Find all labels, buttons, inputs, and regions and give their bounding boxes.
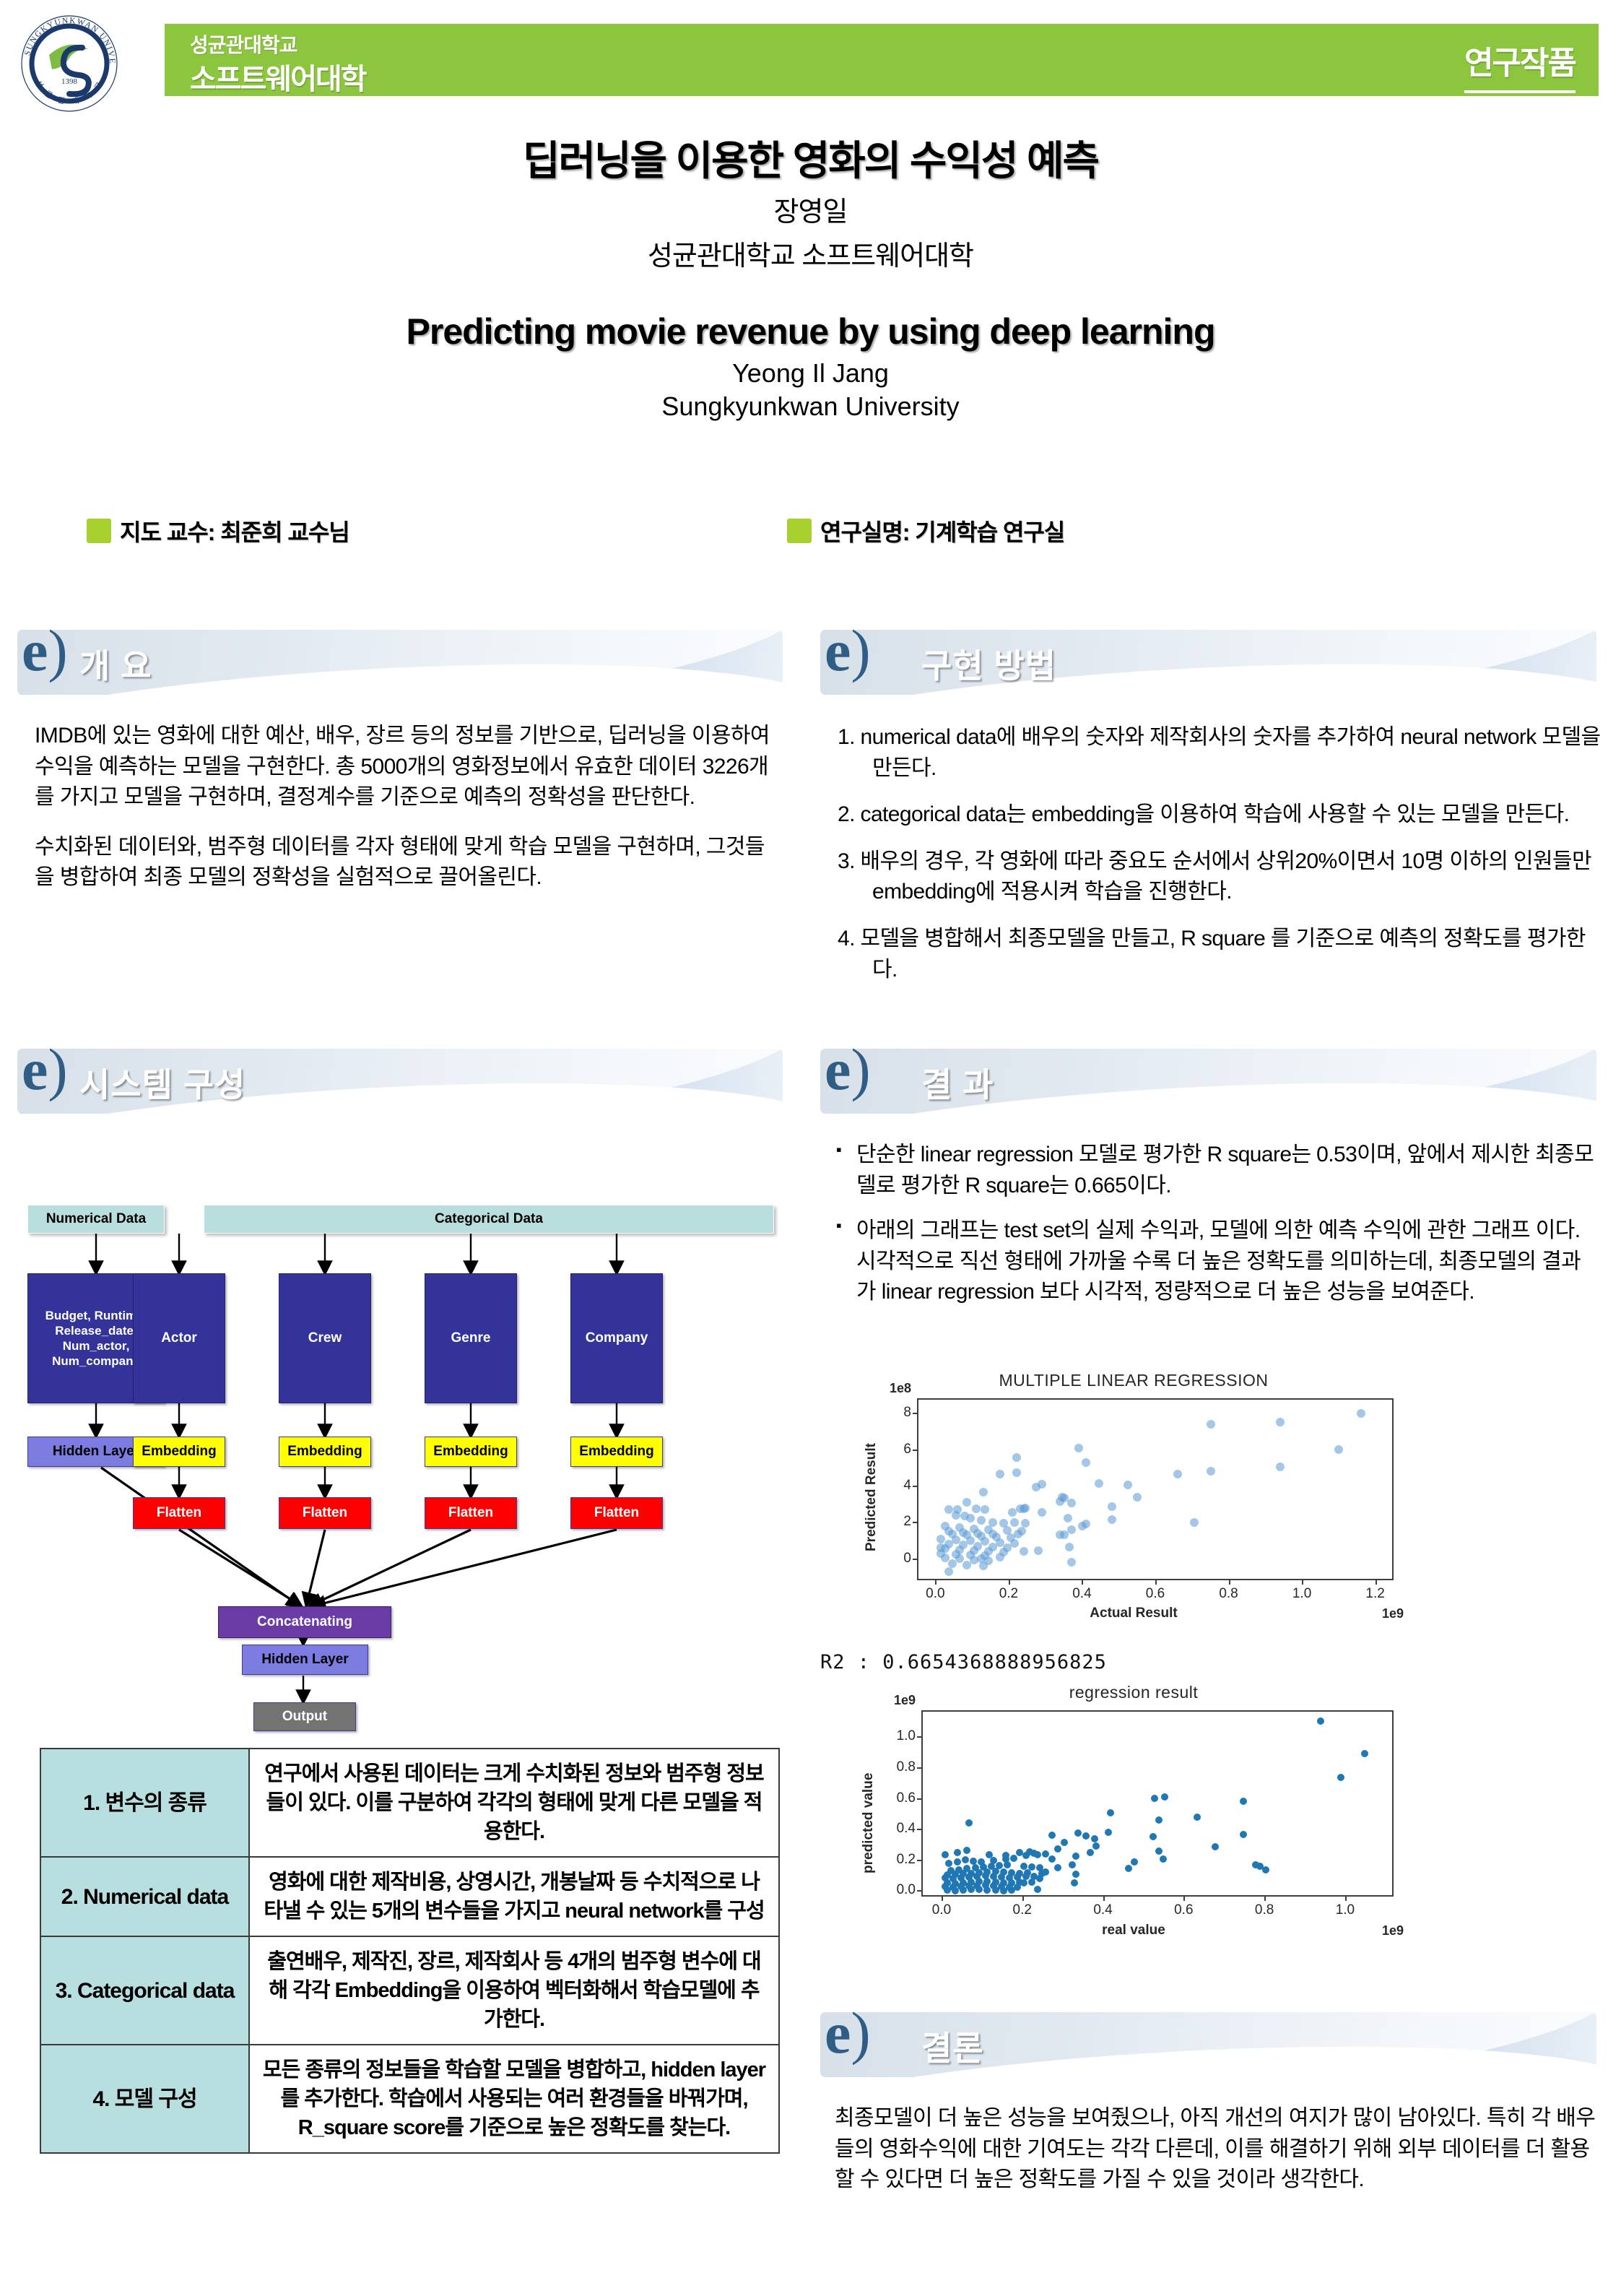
section-header-system: e) 시스템 구성: [17, 1049, 783, 1114]
y-tick-label: 1.0: [882, 1728, 916, 1744]
overview-paragraph-2: 수치화된 데이터와, 범주형 데이터를 각자 형태에 맞게 학습 모델을 구현하…: [35, 832, 778, 893]
scatter-point: [1020, 1863, 1027, 1870]
scatter-point: [1337, 1774, 1344, 1781]
scatter-point: [1207, 1467, 1215, 1476]
scatter-point: [1067, 1499, 1076, 1507]
chart1-x-exponent: 1e9: [1382, 1606, 1404, 1621]
y-tick-label: 4: [878, 1478, 911, 1494]
scatter-point: [1038, 1508, 1046, 1517]
author-korean: 장영일: [0, 189, 1621, 229]
scatter-point: [1124, 1481, 1132, 1489]
diagram-box-genre: Genre: [425, 1273, 517, 1403]
diagram-flatten-actor: Flatten: [133, 1497, 225, 1529]
scatter-point: [1131, 1858, 1138, 1866]
scatter-point: [1065, 1543, 1074, 1551]
poster-header: 1398 SUNGKYUNKWAN UNIVERSITY 성 균 관 대 학 교…: [0, 0, 1621, 130]
scatter-point: [978, 1858, 985, 1866]
conclusion-text: 최종모델이 더 높은 성능을 보여줬으나, 아직 개선의 여지가 많이 남아있다…: [835, 2103, 1600, 2196]
section-title-system: 시스템 구성: [79, 1059, 245, 1106]
scatter-point: [1276, 1418, 1285, 1426]
y-tick-mark: [917, 1798, 921, 1800]
scatter-point: [1034, 1886, 1041, 1893]
e-logo-icon: e): [825, 1049, 871, 1099]
y-tick-mark: [917, 1767, 921, 1769]
scatter-point: [1151, 1795, 1158, 1802]
diagram-box-actor: Actor: [133, 1273, 225, 1403]
scatter-point: [1032, 1483, 1040, 1491]
variable-info-table: 1. 변수의 종류 연구에서 사용된 데이터는 크게 수치화된 정보와 범주형 …: [40, 1748, 780, 2154]
overview-paragraph-1: IMDB에 있는 영화에 대한 예산, 배우, 장르 등의 정보를 기반으로, …: [35, 721, 778, 813]
scatter-point: [988, 1530, 997, 1538]
section-title-result: 결 과: [921, 1059, 994, 1106]
lab-label: 연구실명: 기계학습 연구실: [820, 514, 1064, 547]
e-logo-icon: e): [22, 630, 68, 680]
advisor-label: 지도 교수: 최준희 교수님: [120, 514, 349, 547]
page-title-korean: 딥러닝을 이용한 영화의 수익성 예측: [0, 137, 1621, 185]
x-tick-mark: [1155, 1580, 1157, 1585]
table-row: 2. Numerical data 영화에 대한 제작비용, 상영시간, 개봉날…: [40, 1857, 779, 1936]
y-tick-mark: [913, 1486, 917, 1487]
scatter-point: [1028, 1863, 1035, 1871]
x-tick-mark: [1345, 1897, 1347, 1901]
scatter-point: [1194, 1814, 1201, 1821]
scatter-point: [1190, 1518, 1199, 1527]
chart2-x-exponent: 1e9: [1382, 1923, 1404, 1938]
scatter-point: [954, 1858, 961, 1866]
scatter-point: [992, 1886, 999, 1894]
y-tick-label: 0.6: [882, 1790, 916, 1806]
scatter-point: [1064, 1514, 1072, 1522]
meta-row: 지도 교수: 최준희 교수님 연구실명: 기계학습 연구실: [0, 514, 1621, 550]
scatter-point: [1010, 1855, 1017, 1862]
diagram-embedding-genre: Embedding: [425, 1437, 517, 1467]
scatter-point: [979, 1488, 988, 1496]
table-row-label: 2. Numerical data: [40, 1857, 249, 1936]
scatter-point: [955, 1866, 962, 1873]
scatter-point: [1173, 1470, 1182, 1478]
scatter-point: [1105, 1829, 1112, 1836]
scatter-point: [1071, 1879, 1078, 1886]
overview-body: IMDB에 있는 영화에 대한 예산, 배우, 장르 등의 정보를 기반으로, …: [35, 721, 778, 912]
chart-multiple-linear-regression: MULTIPLE LINEAR REGRESSION 1e8 Predicted…: [845, 1371, 1422, 1631]
x-tick-label: 0.2: [999, 1586, 1018, 1602]
scatter-point: [1072, 1871, 1079, 1878]
scatter-point: [954, 1849, 961, 1856]
scatter-point: [1240, 1831, 1247, 1838]
scatter-point: [944, 1886, 951, 1894]
scatter-point: [996, 1470, 1004, 1478]
scatter-point: [1095, 1479, 1103, 1488]
scatter-point: [1125, 1865, 1132, 1872]
scatter-point: [1108, 1515, 1116, 1524]
scatter-point: [1207, 1420, 1215, 1429]
scatter-point: [1056, 1497, 1064, 1506]
scatter-point: [1334, 1445, 1343, 1454]
scatter-point: [975, 1886, 983, 1893]
x-tick-label: 0.8: [1219, 1586, 1238, 1602]
scatter-point: [1020, 1504, 1028, 1513]
scatter-point: [962, 1498, 971, 1507]
chart-regression-result: regression result 1e9 predicted value re…: [845, 1683, 1422, 1949]
x-tick-mark: [1009, 1580, 1010, 1585]
scatter-point: [977, 1516, 986, 1525]
scatter-point: [1133, 1493, 1142, 1502]
scatter-point: [984, 1556, 993, 1565]
header-category-badge: 연구작품: [1464, 37, 1576, 93]
scatter-point: [1034, 1851, 1041, 1858]
section-header-method: e) 구현 방법: [820, 630, 1596, 695]
section-title-overview: 개 요: [79, 640, 152, 688]
scatter-point: [952, 1511, 960, 1520]
result-bullet: 단순한 linear regression 모델로 평가한 R square는 …: [835, 1140, 1600, 1201]
x-tick-label: 0.2: [1013, 1902, 1032, 1918]
chart2-xlabel: real value: [845, 1923, 1422, 1938]
method-step: 4. 모델을 병합해서 최종모델을 만들고, R square 를 기준으로 예…: [838, 924, 1603, 985]
chart2-y-exponent: 1e9: [894, 1693, 916, 1708]
scatter-point: [960, 1886, 967, 1894]
scatter-point: [1357, 1409, 1365, 1418]
x-tick-mark: [1183, 1897, 1185, 1901]
scatter-point: [1054, 1864, 1061, 1871]
table-row-label: 1. 변수의 종류: [40, 1749, 249, 1857]
scatter-point: [1160, 1855, 1167, 1863]
scatter-point: [990, 1857, 997, 1864]
header-university-name: 성균관대학교: [190, 30, 297, 59]
page-title-english: Predicting movie revenue by using deep l…: [0, 311, 1621, 352]
scatter-point: [1069, 1861, 1076, 1868]
scatter-point: [1161, 1793, 1168, 1801]
scatter-point: [1054, 1845, 1061, 1853]
table-row-value: 연구에서 사용된 데이터는 크게 수치화된 정보와 범주형 정보들이 있다. 이…: [249, 1749, 779, 1857]
scatter-point: [965, 1819, 973, 1827]
scatter-point: [1155, 1847, 1162, 1855]
scatter-point: [1010, 1518, 1019, 1527]
scatter-point: [1020, 1879, 1027, 1886]
scatter-point: [1072, 1853, 1079, 1860]
x-tick-mark: [1103, 1897, 1105, 1901]
chart2-plot-area: [921, 1710, 1394, 1897]
x-tick-label: 0.0: [932, 1902, 951, 1918]
chart1-plot-area: [917, 1398, 1394, 1580]
scatter-point: [948, 1559, 957, 1568]
chart1-xlabel: Actual Result: [845, 1606, 1422, 1621]
scatter-point: [1048, 1832, 1056, 1839]
scatter-point: [959, 1528, 968, 1537]
scatter-point: [947, 1867, 955, 1874]
x-tick-label: 1.2: [1365, 1586, 1384, 1602]
scatter-point: [945, 1860, 952, 1867]
diagram-hidden-layer-final: Hidden Layer: [242, 1645, 368, 1675]
scatter-point: [972, 1504, 981, 1513]
y-tick-label: 0: [878, 1551, 911, 1567]
diagram-output: Output: [253, 1702, 356, 1731]
lab-info: 연구실명: 기계학습 연구실: [787, 514, 1064, 547]
table-row-label: 4. 모델 구성: [40, 2045, 249, 2153]
r2-score-label: R2 : 0.6654368888956825: [820, 1651, 1107, 1673]
diagram-embedding-company: Embedding: [570, 1437, 663, 1467]
scatter-point: [1000, 1887, 1007, 1894]
x-tick-label: 0.6: [1146, 1586, 1165, 1602]
y-tick-mark: [917, 1736, 921, 1738]
x-tick-label: 0.8: [1255, 1902, 1274, 1918]
section-header-conclusion: e) 결론: [820, 2012, 1596, 2077]
y-tick-mark: [917, 1829, 921, 1830]
table-row: 4. 모델 구성 모든 종류의 정보들을 학습할 모델을 병합하고, hidde…: [40, 2045, 779, 2153]
scatter-point: [1002, 1855, 1009, 1863]
y-tick-label: 0.0: [882, 1882, 916, 1898]
diagram-embedding-crew: Embedding: [279, 1437, 371, 1467]
x-tick-label: 0.6: [1174, 1902, 1193, 1918]
scatter-point: [962, 1561, 971, 1569]
scatter-point: [1091, 1835, 1098, 1842]
scatter-point: [944, 1527, 953, 1535]
scatter-point: [1060, 1530, 1069, 1539]
method-steps-list: 1. numerical data에 배우의 숫자와 제작회사의 숫자를 추가하…: [838, 722, 1603, 1001]
x-tick-mark: [1082, 1580, 1083, 1585]
scatter-point: [1108, 1502, 1116, 1511]
scatter-point: [963, 1847, 970, 1854]
scatter-point: [1028, 1879, 1035, 1886]
scatter-point: [1082, 1458, 1090, 1467]
scatter-point: [944, 1567, 953, 1576]
result-bullet: 아래의 그래프는 test set의 실제 수익과, 모델에 의한 예측 수익에…: [835, 1216, 1600, 1308]
diagram-embedding-actor: Embedding: [133, 1437, 225, 1467]
scatter-point: [1074, 1444, 1083, 1452]
scatter-point: [1317, 1717, 1324, 1725]
x-tick-mark: [1022, 1897, 1024, 1901]
section-header-overview: e) 개 요: [17, 630, 783, 695]
method-step: 3. 배우의 경우, 각 영화에 따라 중요도 순서에서 상위20%이면서 10…: [838, 846, 1603, 908]
scatter-point: [1020, 1547, 1028, 1556]
scatter-point: [1212, 1843, 1219, 1850]
chart2-title: regression result: [845, 1683, 1422, 1702]
scatter-point: [1361, 1750, 1368, 1757]
diagram-box-company: Company: [570, 1273, 663, 1403]
table-row-value: 영화에 대한 제작비용, 상영시간, 개봉날짜 등 수치적으로 나타낼 수 있는…: [249, 1857, 779, 1936]
conclusion-body: 최종모델이 더 높은 성능을 보여줬으나, 아직 개선의 여지가 많이 남아있다…: [835, 2103, 1600, 2214]
x-tick-label: 0.4: [1093, 1902, 1112, 1918]
y-tick-label: 0.8: [882, 1759, 916, 1775]
x-tick-mark: [1376, 1580, 1377, 1585]
x-tick-label: 1.0: [1292, 1586, 1311, 1602]
table-row-value: 모든 종류의 정보들을 학습할 모델을 병합하고, hidden layer를 …: [249, 2045, 779, 2153]
scatter-point: [1082, 1832, 1090, 1840]
skku-crest-logo: 1398 SUNGKYUNKWAN UNIVERSITY 성 균 관 대 학 교: [19, 13, 120, 114]
scatter-point: [1074, 1829, 1082, 1837]
e-logo-icon: e): [825, 2012, 871, 2063]
x-tick-mark: [1302, 1580, 1303, 1585]
scatter-point: [970, 1858, 977, 1865]
y-tick-mark: [913, 1450, 917, 1451]
x-tick-mark: [1264, 1897, 1266, 1901]
chart1-y-exponent: 1e8: [890, 1381, 911, 1396]
y-tick-label: 0.4: [882, 1821, 916, 1837]
scatter-point: [1048, 1855, 1056, 1863]
scatter-point: [1067, 1558, 1076, 1567]
title-block: 딥러닝을 이용한 영화의 수익성 예측 장영일 성균관대학교 소프트웨어대학 P…: [0, 137, 1621, 422]
system-architecture-diagram: Numerical Data Categorical Data Budget, …: [14, 1170, 794, 1719]
y-tick-mark: [913, 1559, 917, 1560]
y-tick-mark: [917, 1890, 921, 1892]
x-tick-label: 0.4: [1072, 1586, 1091, 1602]
chart1-ylabel: Predicted Result: [864, 1443, 879, 1551]
x-tick-label: 1.0: [1336, 1902, 1355, 1918]
affiliation-korean: 성균관대학교 소프트웨어대학: [0, 233, 1621, 273]
result-bullets: 단순한 linear regression 모델로 평가한 R square는 …: [835, 1140, 1600, 1322]
scatter-point: [962, 1856, 969, 1863]
x-tick-label: 0.0: [926, 1586, 944, 1602]
section-title-method: 구현 방법: [921, 640, 1056, 688]
x-tick-mark: [1229, 1580, 1230, 1585]
scatter-point: [1155, 1816, 1162, 1824]
section-title-conclusion: 결론: [921, 2022, 984, 2070]
scatter-point: [996, 1553, 1004, 1561]
y-tick-label: 8: [878, 1405, 911, 1421]
diagram-concatenating: Concatenating: [218, 1606, 391, 1638]
scatter-point: [966, 1514, 975, 1522]
y-tick-label: 0.2: [882, 1852, 916, 1868]
e-logo-icon: e): [22, 1049, 68, 1099]
x-tick-mark: [935, 1580, 936, 1585]
scatter-point: [1004, 1861, 1011, 1868]
advisor-marker-icon: [87, 519, 111, 543]
x-tick-mark: [942, 1897, 943, 1901]
chart2-ylabel: predicted value: [861, 1773, 877, 1873]
scatter-point: [983, 1886, 991, 1894]
scatter-point: [1012, 1468, 1021, 1477]
diagram-flatten-crew: Flatten: [279, 1497, 371, 1529]
y-tick-label: 6: [878, 1442, 911, 1457]
diagram-categorical-header: Categorical Data: [204, 1205, 774, 1234]
table-row: 3. Categorical data 출연배우, 제작진, 장르, 제작회사 …: [40, 1936, 779, 2045]
diagram-flatten-company: Flatten: [570, 1497, 663, 1529]
scatter-point: [1012, 1453, 1021, 1462]
scatter-point: [1042, 1868, 1049, 1876]
scatter-point: [981, 1505, 989, 1514]
table-row: 1. 변수의 종류 연구에서 사용된 데이터는 크게 수치화된 정보와 범주형 …: [40, 1749, 779, 1857]
y-tick-mark: [913, 1413, 917, 1414]
y-tick-mark: [913, 1522, 917, 1523]
scatter-point: [942, 1851, 949, 1858]
y-tick-label: 2: [878, 1514, 911, 1530]
diagram-flatten-genre: Flatten: [425, 1497, 517, 1529]
diagram-numerical-header: Numerical Data: [27, 1205, 165, 1234]
table-row-label: 3. Categorical data: [40, 1936, 249, 2045]
diagram-box-crew: Crew: [279, 1273, 371, 1403]
scatter-point: [1150, 1833, 1157, 1840]
advisor-info: 지도 교수: 최준희 교수님: [87, 514, 349, 547]
scatter-point: [968, 1886, 975, 1893]
scatter-point: [1087, 1849, 1094, 1856]
scatter-point: [1092, 1842, 1100, 1850]
scatter-point: [1262, 1866, 1269, 1873]
section-header-result: e) 결 과: [820, 1049, 1596, 1114]
method-step: 1. numerical data에 배우의 숫자와 제작회사의 숫자를 추가하…: [838, 722, 1603, 784]
scatter-point: [1034, 1546, 1043, 1555]
header-green-band: 성균관대학교 소프트웨어대학 연구작품: [165, 24, 1599, 96]
scatter-point: [1078, 1522, 1087, 1530]
scatter-point: [1107, 1809, 1114, 1816]
table-row-value: 출연배우, 제작진, 장르, 제작회사 등 4개의 범주형 변수에 대해 각각 …: [249, 1936, 779, 2045]
scatter-point: [1240, 1798, 1247, 1805]
scatter-point: [1014, 1530, 1022, 1538]
method-step: 2. categorical data는 embedding을 이용하여 학습에…: [838, 800, 1603, 831]
header-college-name: 소프트웨어대학: [190, 56, 366, 98]
y-tick-mark: [917, 1860, 921, 1861]
scatter-point: [1008, 1886, 1015, 1894]
scatter-point: [952, 1887, 959, 1894]
author-english: Yeong Il Jang: [0, 358, 1621, 389]
scatter-point: [1021, 1519, 1030, 1528]
lab-marker-icon: [787, 519, 812, 543]
scatter-point: [1276, 1463, 1285, 1471]
e-logo-icon: e): [825, 630, 871, 680]
affiliation-english: Sungkyunkwan University: [0, 391, 1621, 422]
svg-text:1398: 1398: [61, 77, 78, 86]
scatter-point: [1008, 1508, 1017, 1517]
chart1-title: MULTIPLE LINEAR REGRESSION: [845, 1371, 1422, 1390]
scatter-point: [1061, 1839, 1068, 1846]
